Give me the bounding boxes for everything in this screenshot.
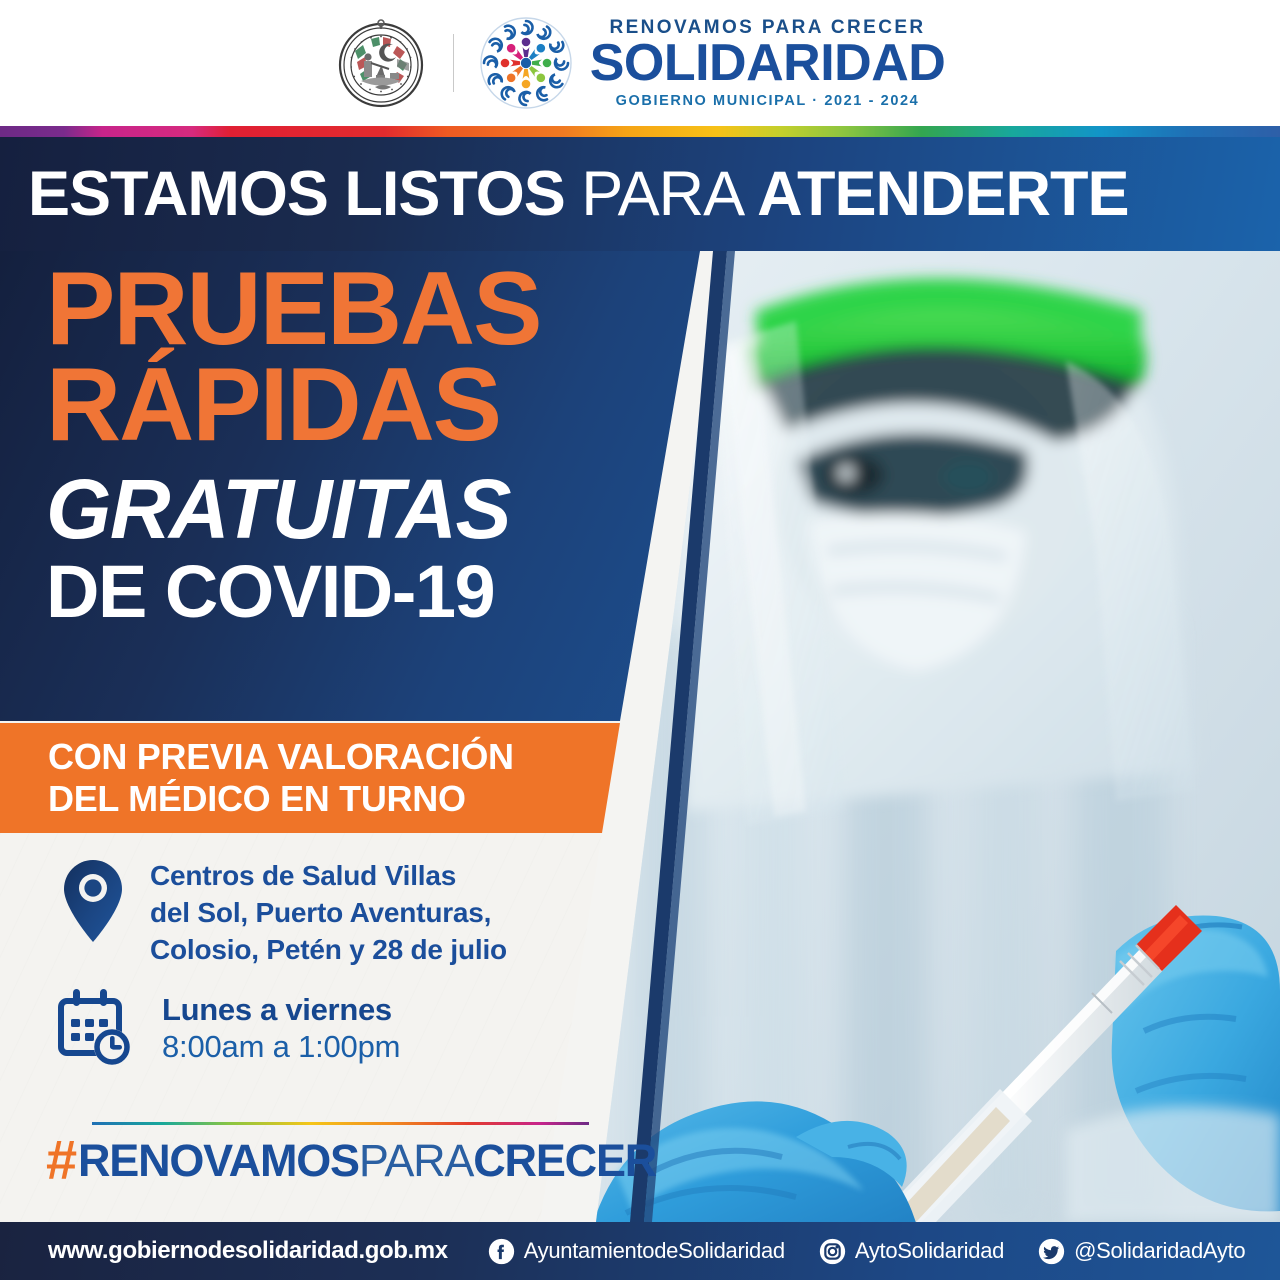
hashtag-light: PARA <box>359 1138 473 1183</box>
footer-twitter-item[interactable]: @SolidaridadAyto <box>1038 1238 1245 1265</box>
calendar-clock-icon <box>58 988 136 1070</box>
location-line-2: del Sol, Puerto Aventuras, <box>150 895 507 932</box>
banner-strip: ESTAMOS LISTOS PARA ATENDERTE <box>0 137 1280 251</box>
hero-line-pruebas: PRUEBAS <box>46 262 666 358</box>
callout-line-1: CON PREVIA VALORACIÓN <box>48 736 620 778</box>
hero-line-covid19: DE COVID-19 <box>46 555 666 629</box>
hash-symbol: # <box>46 1132 76 1188</box>
rainbow-accent-strip <box>0 126 1280 137</box>
footer-instagram-item[interactable]: AytoSolidaridad <box>819 1238 1004 1265</box>
footer-social-group: AyuntamientodeSolidaridad AytoSolidarida… <box>488 1238 1246 1265</box>
solidaridad-wordmark: RENOVAMOS PARA CRECER SOLIDARIDAD GOBIER… <box>590 17 946 108</box>
schedule-info-row: Lunes a viernes 8:00am a 1:00pm <box>58 988 400 1070</box>
location-line-1: Centros de Salud Villas <box>150 858 507 895</box>
schedule-hours: 8:00am a 1:00pm <box>162 1029 400 1065</box>
location-line-3: Colosio, Petén y 28 de julio <box>150 932 507 969</box>
hero-headline-group: PRUEBAS RÁPIDAS GRATUITAS DE COVID-19 <box>46 262 666 629</box>
footer-bar: www.gobiernodesolidaridad.gob.mx Ayuntam… <box>0 1222 1280 1280</box>
banner-bold-1: ESTAMOS LISTOS <box>28 159 565 229</box>
header-logo-bar: RENOVAMOS PARA CRECER SOLIDARIDAD GOBIER… <box>0 0 1280 126</box>
twitter-icon[interactable] <box>1038 1238 1065 1265</box>
logo-divider <box>453 34 454 92</box>
wordmark-subline: GOBIERNO MUNICIPAL · 2021 - 2024 <box>616 93 920 109</box>
footer-website-link[interactable]: www.gobiernodesolidaridad.gob.mx <box>48 1237 448 1265</box>
instagram-icon[interactable] <box>819 1238 846 1265</box>
footer-twitter-handle: @SolidaridadAyto <box>1074 1238 1245 1264</box>
footer-facebook-item[interactable]: AyuntamientodeSolidaridad <box>488 1238 785 1265</box>
hashtag-text: #RENOVAMOSPARACRECER <box>46 1132 656 1188</box>
banner-light: PARA <box>565 159 757 229</box>
hero-line-rapidas: RÁPIDAS <box>46 358 666 454</box>
solidaridad-circular-logo-icon <box>478 15 574 111</box>
location-text: Centros de Salud Villas del Sol, Puerto … <box>150 858 507 969</box>
municipal-seal-icon <box>335 15 427 111</box>
location-info-row: Centros de Salud Villas del Sol, Puerto … <box>62 858 507 969</box>
hashtag-bold-2: CRECER <box>473 1138 656 1183</box>
poster-canvas: RENOVAMOS PARA CRECER SOLIDARIDAD GOBIER… <box>0 0 1280 1280</box>
banner-bold-2: ATENDERTE <box>757 159 1128 229</box>
callout-line-2: DEL MÉDICO EN TURNO <box>48 778 620 820</box>
hashtag-bold-1: RENOVAMOS <box>78 1138 359 1183</box>
wordmark-title: SOLIDARIDAD <box>590 37 946 90</box>
footer-instagram-handle: AytoSolidaridad <box>855 1238 1004 1264</box>
schedule-text: Lunes a viernes 8:00am a 1:00pm <box>162 993 400 1065</box>
hashtag-rainbow-rule <box>92 1122 589 1125</box>
banner-headline: ESTAMOS LISTOS PARA ATENDERTE <box>28 163 1129 226</box>
map-pin-icon <box>62 858 124 944</box>
covid-test-photo <box>596 251 1280 1222</box>
footer-facebook-handle: AyuntamientodeSolidaridad <box>524 1238 785 1264</box>
hero-line-gratuitas: GRATUITAS <box>46 467 666 553</box>
facebook-icon[interactable] <box>488 1238 515 1265</box>
callout-orange-band: CON PREVIA VALORACIÓN DEL MÉDICO EN TURN… <box>0 723 620 833</box>
schedule-days: Lunes a viernes <box>162 993 400 1028</box>
